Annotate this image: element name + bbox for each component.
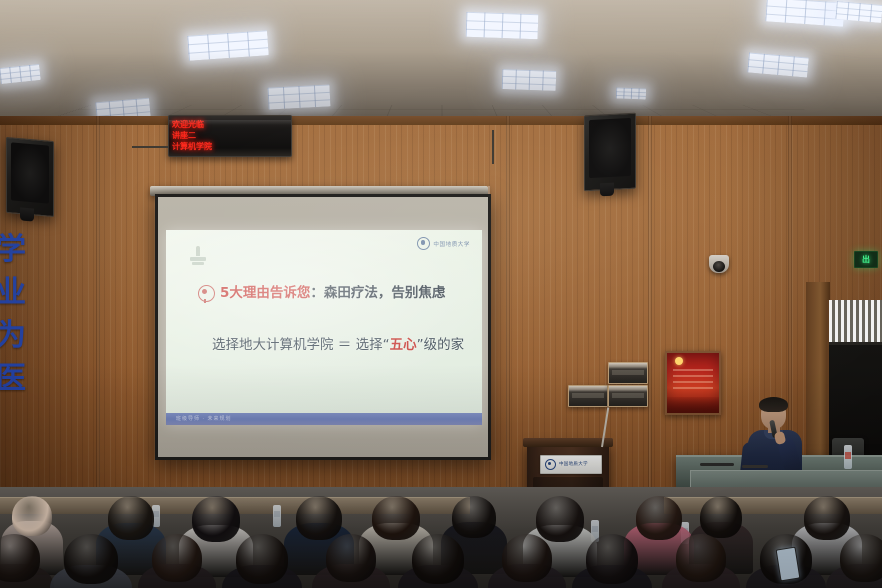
red-notice-poster — [665, 351, 721, 415]
speaker-cable-right — [492, 130, 494, 164]
presentation-slide: 中国地质大学 5大理由告诉您：森田疗法，告别焦虑 选择地大计算机学院 ＝ 选择“… — [166, 230, 482, 425]
speaker-mount-left — [20, 207, 34, 221]
university-seal-icon — [417, 237, 430, 250]
poster-text-lines — [673, 369, 713, 391]
speaker-bracket-left — [132, 146, 168, 148]
university-logo: 中国地质大学 — [417, 237, 470, 250]
audience-member-head — [840, 534, 882, 582]
audience-member-head — [412, 534, 464, 584]
audience-member-head — [326, 534, 376, 582]
audience-member-head — [236, 534, 288, 584]
projector-glare — [166, 230, 482, 425]
presenter-hair — [759, 397, 788, 412]
ceiling — [0, 0, 882, 132]
audience-member-head — [152, 534, 202, 582]
wall-speaker-right — [584, 113, 636, 192]
security-camera-icon — [709, 255, 729, 273]
window-blinds — [829, 300, 882, 348]
audience-member-head — [12, 496, 52, 536]
audience-member-head — [804, 496, 850, 540]
slide-subline-highlight: 五心 — [390, 337, 417, 353]
audience-member-head — [64, 534, 118, 584]
slide-subline-suffix: ”级的家 — [417, 337, 465, 353]
table-microphone — [700, 463, 734, 466]
audience-member-head — [700, 496, 742, 538]
award-ribbon-icon — [198, 285, 215, 302]
poster-emblem-icon — [675, 357, 683, 365]
poster-footer-art — [667, 397, 719, 413]
exit-sign-label: 出 — [862, 256, 870, 264]
led-scrolling-sign: 欢迎光临 讲座二 计算机学院 — [168, 115, 292, 157]
audience-member-head — [452, 496, 496, 538]
audience-member-head — [676, 534, 726, 582]
led-sign-text: 欢迎光临 讲座二 计算机学院 — [172, 119, 206, 152]
university-seal-icon — [545, 459, 556, 470]
podium-top-surface — [523, 438, 613, 447]
wall-control-panel — [608, 385, 648, 407]
water-bottle — [844, 445, 852, 469]
slide-footer-text: 班级导师 · 未来规划 — [176, 415, 231, 422]
banner-char: 业 — [0, 271, 40, 314]
projection-screen: 中国地质大学 5大理由告诉您：森田疗法，告别焦虑 选择地大计算机学院 ＝ 选择“… — [155, 194, 491, 460]
podium-nameplate-text: 中国地质大学 — [559, 461, 588, 468]
led-line-2: 讲座二 — [172, 130, 206, 141]
wall-banner-characters: 学 业 为 医 — [0, 228, 40, 400]
audience-member-head — [108, 496, 154, 540]
audience-member-head — [536, 496, 584, 542]
drill-tower-icon — [190, 246, 206, 268]
audience-member-head — [192, 496, 240, 542]
slide-headline-rest: ：森田疗法，告别焦虑 — [310, 285, 445, 301]
audience-member-head — [296, 496, 342, 540]
slide-subline-prefix: 选择地大计算机学院 ＝ 选择“ — [212, 337, 390, 353]
audience-member-head — [502, 534, 552, 582]
led-line-3: 计算机学院 — [172, 141, 206, 152]
led-line-1: 欢迎光临 — [172, 119, 206, 130]
slide-headline-highlight: 5大理由告诉您 — [220, 285, 310, 301]
ceiling-shading — [0, 0, 882, 132]
water-bottle — [273, 505, 281, 527]
wall-control-panel — [568, 385, 608, 407]
banner-char: 学 — [0, 228, 40, 271]
slide-headline: 5大理由告诉您：森田疗法，告别焦虑 — [220, 285, 466, 301]
slide-footer-bar: 班级导师 · 未来规划 — [166, 413, 482, 425]
audience-member-head — [586, 534, 638, 584]
audience-member-head — [372, 496, 420, 540]
table-microphone — [742, 465, 768, 468]
banner-char: 为 — [0, 314, 40, 357]
wall-control-panel — [608, 362, 648, 384]
audience-member-head — [636, 496, 682, 540]
slide-subline: 选择地大计算机学院 ＝ 选择“五心”级的家 — [212, 336, 470, 354]
wall-speaker-left — [6, 137, 54, 217]
audience-desk-row — [664, 497, 882, 514]
banner-char: 医 — [0, 357, 40, 400]
speaker-mount-right — [600, 183, 614, 197]
exit-sign: 出 — [854, 251, 878, 268]
university-logo-text: 中国地质大学 — [433, 240, 470, 248]
podium-nameplate: 中国地质大学 — [540, 455, 602, 474]
lecture-hall-photo: 学 业 为 医 欢迎光临 讲座二 计算机学院 出 — [0, 0, 882, 588]
